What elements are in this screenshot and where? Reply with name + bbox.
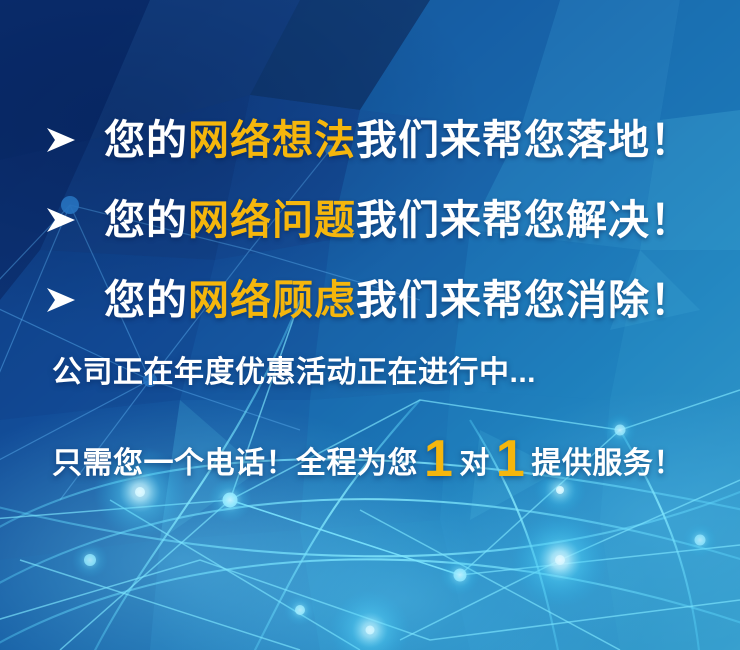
headline-text-2: 您的网络问题我们来帮您解决！	[104, 200, 692, 241]
subtitle-line-1: 公司正在年度优惠活动正在进行中...	[52, 358, 712, 388]
headline-suffix-3: 我们来帮您消除！	[356, 277, 692, 323]
headline-suffix-2: 我们来帮您解决！	[356, 197, 692, 243]
headline-prefix-3: 您的	[104, 277, 188, 323]
headline-highlight-2: 网络问题	[188, 197, 356, 243]
arrow-right-icon	[46, 127, 76, 153]
subtitle-line2-part2: 提供服务！	[531, 449, 684, 479]
headline-prefix-2: 您的	[104, 197, 188, 243]
headline-list: 您的网络想法我们来帮您落地！ 您的网络问题我们来帮您解决！ 您的网络顾虑我们来帮…	[0, 100, 740, 340]
subtitle-line2-middle: 对	[459, 449, 490, 479]
subtitle-line2-part1: 只需您一个电话！全程为您	[52, 449, 418, 479]
headline-item-3: 您的网络顾虑我们来帮您消除！	[0, 260, 740, 340]
headline-suffix-1: 我们来帮您落地！	[356, 117, 692, 163]
subtitle-line-2: 只需您一个电话！全程为您 1 对 1 提供服务！	[52, 430, 712, 482]
subtitle-block: 公司正在年度优惠活动正在进行中... 只需您一个电话！全程为您 1 对 1 提供…	[52, 358, 712, 482]
subtitle-number-first: 1	[424, 433, 453, 485]
headline-text-1: 您的网络想法我们来帮您落地！	[104, 120, 692, 161]
banner-content: 您的网络想法我们来帮您落地！ 您的网络问题我们来帮您解决！ 您的网络顾虑我们来帮…	[0, 0, 740, 650]
subtitle-number-second: 1	[496, 433, 525, 485]
headline-highlight-3: 网络顾虑	[188, 277, 356, 323]
headline-item-2: 您的网络问题我们来帮您解决！	[0, 180, 740, 260]
headline-text-3: 您的网络顾虑我们来帮您消除！	[104, 280, 692, 321]
headline-prefix-1: 您的	[104, 117, 188, 163]
arrow-right-icon	[46, 207, 76, 233]
headline-item-1: 您的网络想法我们来帮您落地！	[0, 100, 740, 180]
promo-banner: 您的网络想法我们来帮您落地！ 您的网络问题我们来帮您解决！ 您的网络顾虑我们来帮…	[0, 0, 740, 650]
arrow-right-icon	[46, 287, 76, 313]
headline-highlight-1: 网络想法	[188, 117, 356, 163]
